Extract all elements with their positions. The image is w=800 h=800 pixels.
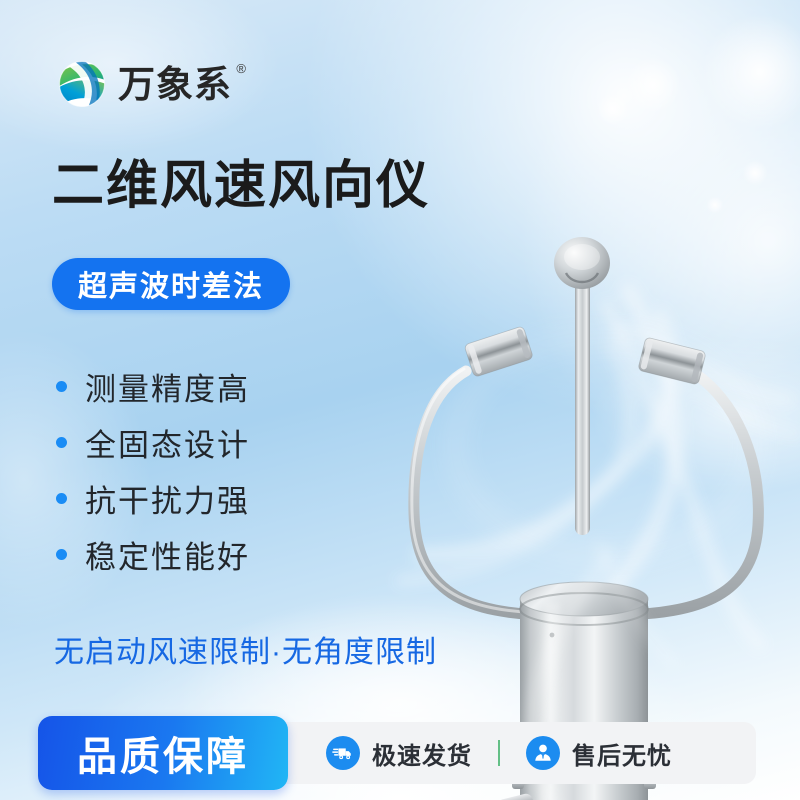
- quality-guarantee-label: 品质保障: [77, 724, 249, 782]
- list-item: 抗干扰力强: [56, 470, 250, 526]
- page-title: 二维风速风向仪: [52, 158, 430, 215]
- feature-list: 测量精度高 全固态设计 抗干扰力强 稳定性能好: [56, 358, 250, 582]
- list-item: 全固态设计: [56, 414, 250, 470]
- registered-trademark-icon: ®: [236, 62, 247, 75]
- trust-label-shipping: 极速发货: [372, 736, 472, 771]
- brand-name: 万象系 ®: [118, 66, 232, 103]
- product-image: [360, 195, 800, 695]
- bullet-dot-icon: [56, 549, 67, 560]
- globe-swirl-logo-icon: [56, 58, 108, 110]
- trust-label-aftersales: 售后无忧: [572, 736, 672, 771]
- trust-divider: [498, 740, 500, 766]
- trust-item-shipping: 极速发货: [300, 736, 498, 771]
- feature-label: 测量精度高: [85, 364, 250, 409]
- bullet-dot-icon: [56, 493, 67, 504]
- feature-label: 抗干扰力强: [85, 476, 250, 521]
- feature-label: 全固态设计: [85, 420, 250, 465]
- bullet-dot-icon: [56, 381, 67, 392]
- customer-service-person-icon: [526, 736, 560, 770]
- delivery-truck-icon: [326, 736, 360, 770]
- product-poster: 万象系 ® 二维风速风向仪 超声波时差法 测量精度高 全固态设计 抗干扰力强 稳…: [0, 0, 800, 800]
- trust-items: 极速发货 售后无忧: [300, 722, 698, 784]
- bullet-dot-icon: [56, 437, 67, 448]
- list-item: 稳定性能好: [56, 526, 250, 582]
- left-transducer-arm: [412, 326, 556, 615]
- quality-guarantee-badge: 品质保障: [38, 716, 288, 790]
- brand-logo: 万象系 ®: [56, 58, 232, 110]
- feature-label: 稳定性能好: [85, 532, 250, 577]
- trust-item-aftersales: 售后无忧: [500, 736, 698, 771]
- list-item: 测量精度高: [56, 358, 250, 414]
- brand-name-text: 万象系: [118, 64, 232, 105]
- method-badge: 超声波时差法: [52, 258, 290, 310]
- tagline: 无启动风速限制·无角度限制: [54, 627, 437, 671]
